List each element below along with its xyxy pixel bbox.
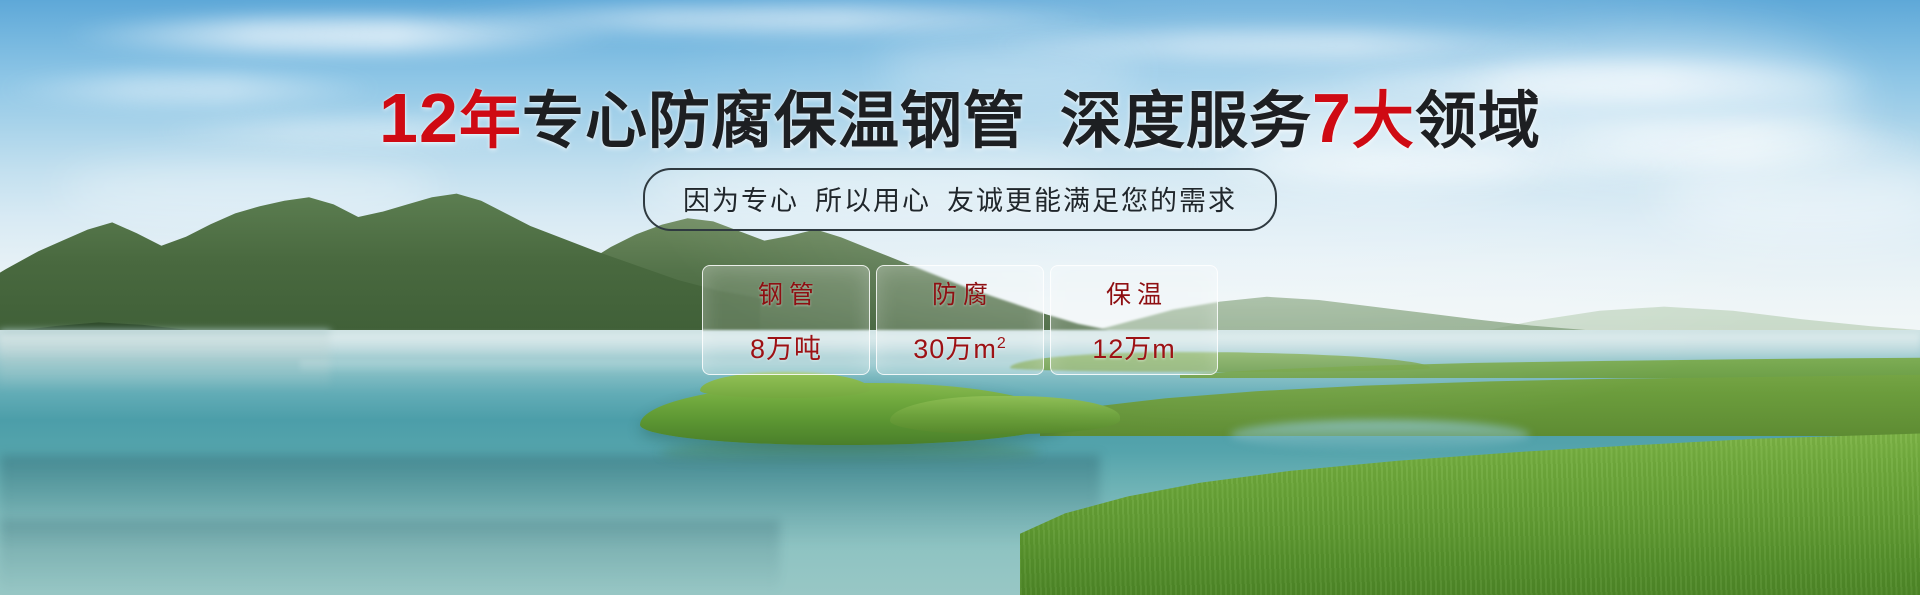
- stat-value-text: 12万m: [1092, 334, 1176, 364]
- stat-value-superscript: 2: [997, 335, 1007, 352]
- headline-fields-number: 7: [1312, 79, 1352, 157]
- stat-card-group: 钢管 8万吨 防腐 30万m2 保温 12万m: [0, 265, 1920, 375]
- stat-value: 12万m: [1092, 327, 1176, 366]
- subtitle-part-1: 因为专心: [683, 186, 799, 216]
- headline-service-phrase: 深度服务: [1060, 87, 1312, 156]
- headline-main-phrase: 专心防腐保温钢管: [522, 87, 1026, 156]
- stat-card-anticorrosion[interactable]: 防腐 30万m2: [876, 265, 1044, 375]
- subtitle-part-2: 所以用心: [815, 186, 931, 216]
- stat-label: 防腐: [926, 275, 994, 311]
- stat-value: 30万m2: [913, 327, 1006, 366]
- subtitle-part-3: 友诚更能满足您的需求: [947, 186, 1237, 216]
- stat-card-insulation[interactable]: 保温 12万m: [1050, 265, 1218, 375]
- headline-years-number: 12: [379, 79, 459, 157]
- headline-fields-label: 领域: [1415, 87, 1541, 156]
- hero-banner: 12年专心防腐保温钢管深度服务7大领域 因为专心所以用心友诚更能满足您的需求 钢…: [0, 0, 1920, 595]
- banner-subtitle-wrap: 因为专心所以用心友诚更能满足您的需求: [0, 168, 1920, 231]
- headline-fields-unit: 大: [1352, 87, 1415, 156]
- banner-headline: 12年专心防腐保温钢管深度服务7大领域: [0, 82, 1920, 156]
- stat-value: 8万吨: [750, 327, 822, 366]
- stat-value-text: 30万m: [913, 334, 997, 364]
- stat-card-steel-pipe[interactable]: 钢管 8万吨: [702, 265, 870, 375]
- stat-label: 保温: [1100, 275, 1168, 311]
- banner-content: 12年专心防腐保温钢管深度服务7大领域 因为专心所以用心友诚更能满足您的需求 钢…: [0, 0, 1920, 595]
- headline-years-unit: 年: [459, 87, 522, 156]
- banner-subtitle-pill: 因为专心所以用心友诚更能满足您的需求: [643, 168, 1277, 231]
- stat-label: 钢管: [752, 275, 820, 311]
- stat-value-text: 8万吨: [750, 334, 822, 364]
